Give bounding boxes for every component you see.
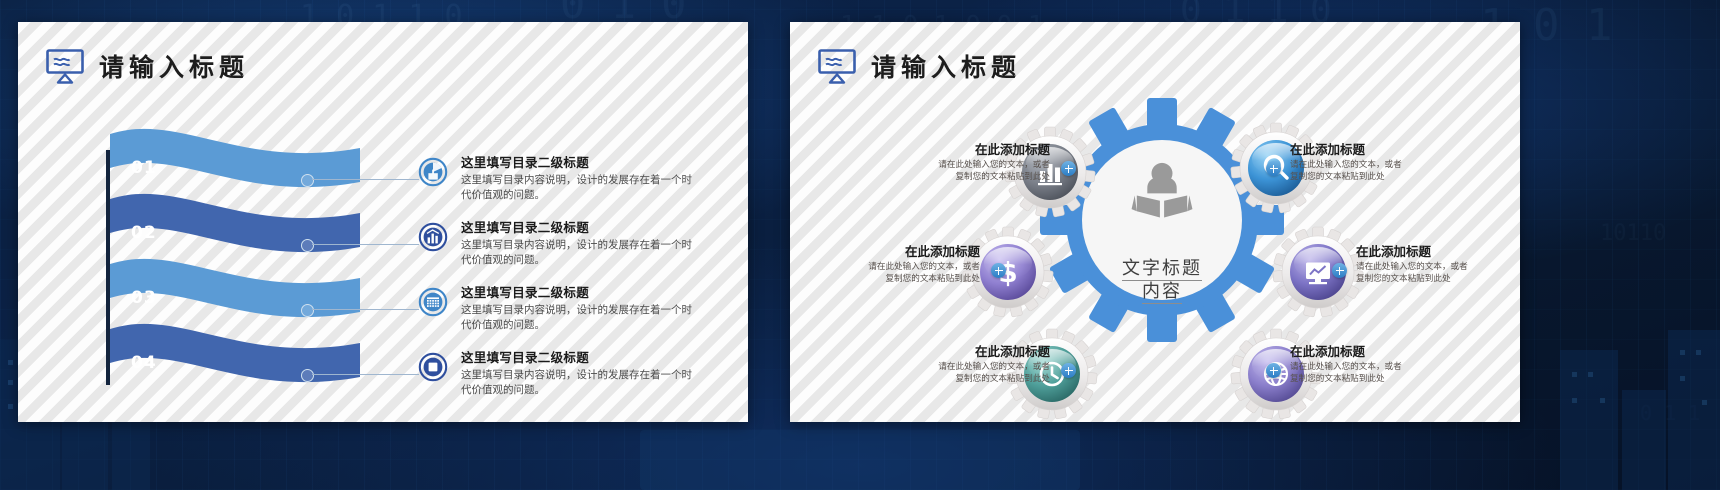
bar-chart-icon — [418, 222, 448, 252]
plus-icon-top-left[interactable] — [1061, 161, 1076, 176]
slide-left-header: 请输入标题 — [45, 48, 249, 84]
list-item-title: 这里填写目录二级标题 — [461, 350, 699, 366]
node-label-bottom-right[interactable]: 在此添加标题 请在此处输入您的文本，或者复制您的文本粘贴到此处 — [1290, 344, 1402, 386]
center-gear-caption: 文字标题 内容 — [1077, 258, 1247, 304]
plus-icon-mid-left[interactable] — [991, 263, 1006, 278]
list-item[interactable]: 这里填写目录二级标题 这里填写目录内容说明，设计的发展存在着一个时代价值观的问题… — [418, 350, 699, 397]
connector-line-02 — [312, 244, 419, 245]
list-item-title: 这里填写目录二级标题 — [461, 220, 699, 236]
node-title: 在此添加标题 — [938, 344, 1050, 359]
node-title: 在此添加标题 — [1356, 244, 1468, 259]
node-body: 请在此处输入您的文本，或者复制您的文本粘贴到此处 — [1290, 160, 1402, 184]
plus-icon-top-right[interactable] — [1266, 161, 1281, 176]
list-item-title: 这里填写目录二级标题 — [461, 155, 699, 171]
slide-left[interactable]: 请输入标题 01 02 03 04 — [18, 22, 748, 422]
connector-line-01 — [312, 179, 419, 180]
satellite-gear-mid-right — [1273, 227, 1364, 317]
list-item-title: 这里填写目录二级标题 — [461, 285, 699, 301]
grid-building-icon — [418, 287, 448, 317]
node-title: 在此添加标题 — [1290, 142, 1402, 157]
ribbon-number-04: 04 — [131, 353, 157, 373]
ribbon-knob-04 — [301, 369, 314, 382]
node-body: 请在此处输入您的文本，或者复制您的文本粘贴到此处 — [1356, 262, 1468, 286]
node-title: 在此添加标题 — [868, 244, 980, 259]
node-label-mid-left[interactable]: 在此添加标题 请在此处输入您的文本，或者复制您的文本粘贴到此处 — [868, 244, 980, 286]
ribbon-number-03: 03 — [131, 288, 157, 308]
node-body: 请在此处输入您的文本，或者复制您的文本粘贴到此处 — [868, 262, 980, 286]
node-body: 请在此处输入您的文本，或者复制您的文本粘贴到此处 — [938, 160, 1050, 184]
plus-icon-bottom-right[interactable] — [1266, 363, 1281, 378]
center-caption-line2: 内容 — [1142, 281, 1182, 304]
plus-icon-bottom-left[interactable] — [1061, 363, 1076, 378]
ribbon-number-02: 02 — [131, 223, 157, 243]
node-body: 请在此处输入您的文本，或者复制您的文本粘贴到此处 — [1290, 362, 1402, 386]
projector-screen-icon — [45, 48, 85, 84]
plus-icon-mid-right[interactable] — [1332, 263, 1347, 278]
screenshot-stage: 1 0 1 1 0 0 1 0 1 1 0 1 0 0 1 0 1 1 0 1 … — [0, 0, 1720, 490]
ribbon-knob-02 — [301, 239, 314, 252]
list-item-body: 这里填写目录内容说明，设计的发展存在着一个时代价值观的问题。 — [461, 303, 699, 333]
connector-line-04 — [312, 374, 419, 375]
node-title: 在此添加标题 — [938, 142, 1050, 157]
ribbon-knob-01 — [301, 174, 314, 187]
connector-line-03 — [312, 309, 419, 310]
pie-chart-presentation-icon — [418, 157, 448, 187]
list-item[interactable]: 这里填写目录二级标题 这里填写目录内容说明，设计的发展存在着一个时代价值观的问题… — [418, 220, 699, 267]
square-stop-icon — [418, 352, 448, 382]
node-label-bottom-left[interactable]: 在此添加标题 请在此处输入您的文本，或者复制您的文本粘贴到此处 — [938, 344, 1050, 386]
page-title: 请输入标题 — [99, 48, 249, 84]
ribbon-number-01: 01 — [131, 158, 157, 178]
center-caption-line1: 文字标题 — [1122, 258, 1202, 281]
node-label-top-left[interactable]: 在此添加标题 请在此处输入您的文本，或者复制您的文本粘贴到此处 — [938, 142, 1050, 184]
slide-right[interactable]: 请输入标题 — [790, 22, 1520, 422]
node-label-top-right[interactable]: 在此添加标题 请在此处输入您的文本，或者复制您的文本粘贴到此处 — [1290, 142, 1402, 184]
list-item[interactable]: 这里填写目录二级标题 这里填写目录内容说明，设计的发展存在着一个时代价值观的问题… — [418, 155, 699, 202]
node-body: 请在此处输入您的文本，或者复制您的文本粘贴到此处 — [938, 362, 1050, 386]
node-label-mid-right[interactable]: 在此添加标题 请在此处输入您的文本，或者复制您的文本粘贴到此处 — [1356, 244, 1468, 286]
list-item-body: 这里填写目录内容说明，设计的发展存在着一个时代价值观的问题。 — [461, 173, 699, 203]
list-item-body: 这里填写目录内容说明，设计的发展存在着一个时代价值观的问题。 — [461, 238, 699, 268]
list-item-body: 这里填写目录内容说明，设计的发展存在着一个时代价值观的问题。 — [461, 368, 699, 398]
gear-diagram: $ — [790, 22, 1520, 422]
ribbon-knob-03 — [301, 304, 314, 317]
list-item[interactable]: 这里填写目录二级标题 这里填写目录内容说明，设计的发展存在着一个时代价值观的问题… — [418, 285, 699, 332]
node-title: 在此添加标题 — [1290, 344, 1402, 359]
